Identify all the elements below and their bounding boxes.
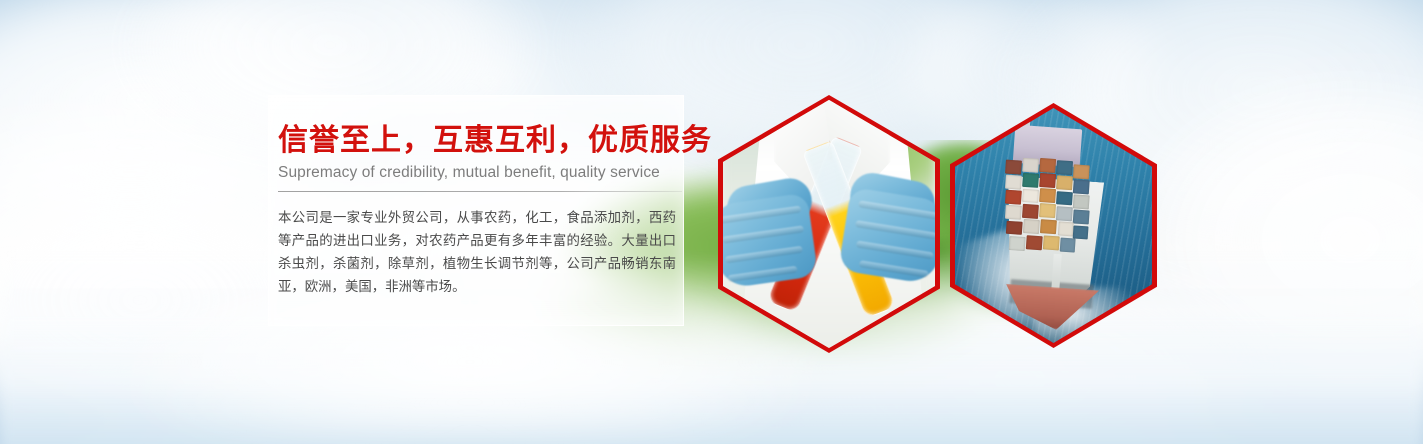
container: [1073, 164, 1090, 179]
container: [1073, 225, 1089, 240]
container: [1073, 210, 1090, 225]
container: [1073, 194, 1090, 209]
glove-right: [838, 187, 935, 286]
container: [1005, 159, 1022, 174]
container: [1023, 158, 1040, 173]
glove-finger: [724, 246, 802, 264]
container: [1005, 205, 1022, 220]
container: [1043, 236, 1060, 251]
container: [1005, 174, 1022, 189]
promo-banner: 信誉至上，互惠互利，优质服务 Supremacy of credibility,…: [0, 0, 1423, 444]
container: [1057, 191, 1074, 206]
container: [1060, 238, 1076, 253]
container: [1073, 179, 1090, 194]
glove-finger: [723, 206, 801, 224]
glove-finger: [855, 241, 933, 260]
container: [1058, 221, 1075, 236]
glove-finger: [855, 220, 935, 240]
container: [1023, 173, 1040, 188]
container: [1057, 175, 1074, 190]
container: [1007, 220, 1024, 235]
container: [1040, 158, 1057, 173]
glove-finger: [727, 266, 798, 283]
container: [1005, 190, 1022, 205]
container: [1040, 173, 1057, 188]
container: [1040, 204, 1057, 219]
container: [1009, 236, 1026, 251]
container: [1041, 219, 1058, 234]
panel-body-text: 本公司是一家专业外贸公司，从事农药，化工，食品添加剂，西药等产品的进出口业务，对…: [278, 207, 676, 299]
text-panel: 信誉至上，互惠互利，优质服务 Supremacy of credibility,…: [268, 95, 684, 326]
panel-title-english: Supremacy of credibility, mutual benefit…: [278, 164, 673, 182]
container: [1023, 188, 1040, 203]
glove-finger: [723, 226, 803, 244]
container: [1040, 188, 1057, 203]
glove-left: [723, 193, 817, 290]
container: [1057, 160, 1074, 175]
container: [1026, 236, 1043, 251]
container: [1057, 206, 1074, 221]
container: [1023, 204, 1040, 219]
glove-finger: [858, 200, 935, 220]
panel-title-chinese: 信誉至上，互惠互利，优质服务: [278, 124, 673, 157]
container: [1024, 219, 1041, 234]
panel-divider: [278, 191, 682, 192]
